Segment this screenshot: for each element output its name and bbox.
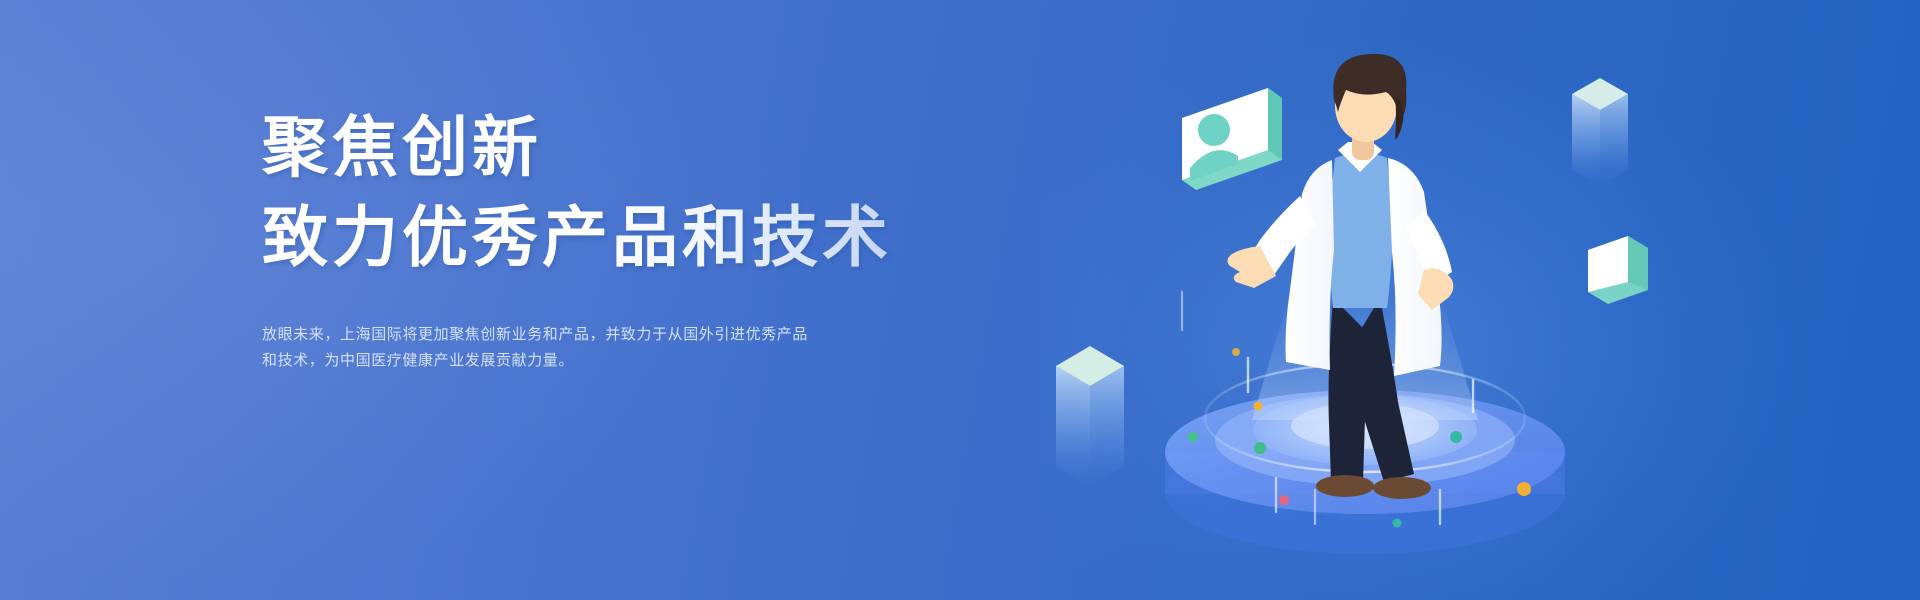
isometric-bar-right-icon — [1572, 78, 1628, 186]
banner-subtitle: 放眼未来，上海国际将更加聚焦创新业务和产品，并致力于从国外引进优秀产品 和技术，… — [262, 322, 852, 374]
subtitle-line-2: 和技术，为中国医疗健康产业发展贡献力量。 — [262, 348, 852, 374]
background-glow-right — [1040, 40, 1800, 600]
headline-line-1: 聚焦创新 — [262, 104, 902, 190]
glowing-podium — [1165, 300, 1565, 554]
hero-banner: 聚焦创新 致力优秀产品和技术 放眼未来，上海国际将更加聚焦创新业务和产品，并致力… — [0, 0, 1920, 600]
banner-copy: 聚焦创新 致力优秀产品和技术 放眼未来，上海国际将更加聚焦创新业务和产品，并致力… — [262, 104, 902, 374]
particle-dots — [1188, 348, 1531, 528]
isometric-card-right-icon — [1588, 236, 1648, 304]
headline-line-2: 致力优秀产品和技术 — [262, 194, 902, 280]
user-profile-card-icon — [1182, 88, 1282, 190]
doctor-figure — [1227, 54, 1453, 499]
isometric-bar-left-icon — [1056, 346, 1124, 486]
subtitle-line-1: 放眼未来，上海国际将更加聚焦创新业务和产品，并致力于从国外引进优秀产品 — [262, 322, 852, 348]
light-streaks — [1182, 292, 1473, 524]
